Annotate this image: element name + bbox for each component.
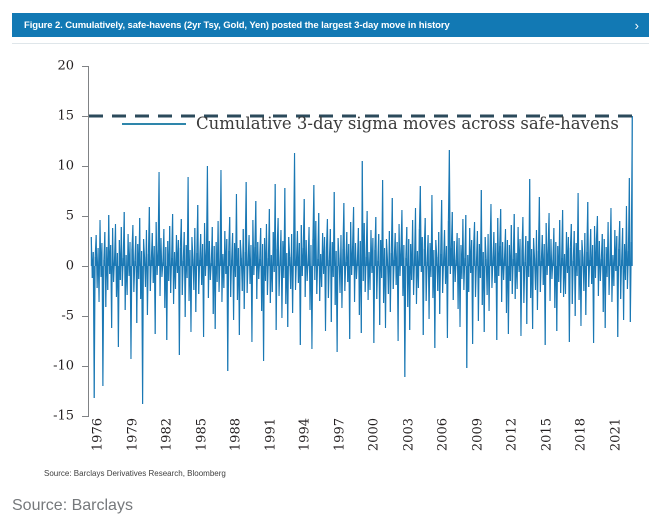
x-axis-tick-label: 1979: [125, 418, 140, 451]
x-axis-tick-label: 2021: [608, 418, 623, 451]
y-axis-tick-label: -10: [53, 359, 74, 374]
y-axis-tick: [82, 166, 89, 167]
y-axis-tick-labels: 20151050-5-10-15: [32, 66, 74, 416]
y-axis-tick-label: 5: [66, 209, 74, 224]
y-axis-tick-label: -15: [53, 409, 74, 424]
legend-label: Cumulative 3-day sigma moves across safe…: [196, 114, 619, 133]
x-axis-tick-label: 2012: [505, 418, 520, 451]
y-axis-tick: [82, 366, 89, 367]
x-axis-tick-label: 1991: [263, 418, 278, 451]
x-axis-tick-label: 2015: [539, 418, 554, 451]
x-axis-tick-label: 1997: [332, 418, 347, 451]
x-axis-tick-label: 1976: [91, 418, 106, 451]
x-axis-tick-label: 1982: [160, 418, 175, 451]
chart-source-note: Source: Barclays Derivatives Research, B…: [44, 469, 226, 478]
chart-plot-wrapper: 20151050-5-10-15 Cumulative 3-day sigma …: [12, 44, 649, 491]
chart-legend: Cumulative 3-day sigma moves across safe…: [122, 114, 619, 133]
bottom-source-caption: Source: Barclays: [12, 497, 133, 515]
x-axis-tick-label: 1985: [194, 418, 209, 451]
figure-header-title: Figure 2. Cumulatively, safe-havens (2yr…: [24, 20, 629, 31]
x-axis-tick-label: 2003: [401, 418, 416, 451]
x-axis-tick-label: 1988: [229, 418, 244, 451]
chevron-right-icon[interactable]: ›: [629, 19, 639, 32]
y-axis-tick-label: 15: [57, 109, 74, 124]
x-axis-tick-label: 2009: [470, 418, 485, 451]
y-axis-tick-label: 0: [66, 259, 74, 274]
x-axis-tick-label: 1994: [298, 418, 313, 451]
x-axis-tick-label: 2006: [436, 418, 451, 451]
x-axis-tick-label: 2000: [367, 418, 382, 451]
y-axis-tick: [82, 316, 89, 317]
legend-line-swatch: [122, 123, 186, 125]
y-axis-tick: [82, 216, 89, 217]
y-axis-tick: [82, 266, 89, 267]
y-axis-tick-label: 20: [57, 59, 74, 74]
y-axis-tick: [82, 116, 89, 117]
chart-card: 20151050-5-10-15 Cumulative 3-day sigma …: [12, 43, 649, 490]
y-axis-tick-label: 10: [57, 159, 74, 174]
x-axis-tick-label: 2018: [574, 418, 589, 451]
y-axis-tick-label: -5: [61, 309, 74, 324]
x-axis-tick-labels: 1976197919821985198819911994199720002003…: [89, 418, 634, 474]
figure-screenshot: Figure 2. Cumulatively, safe-havens (2yr…: [0, 0, 661, 528]
figure-header-bar[interactable]: Figure 2. Cumulatively, safe-havens (2yr…: [12, 13, 649, 37]
y-axis-tick: [82, 416, 89, 417]
y-axis-tick: [82, 66, 89, 67]
